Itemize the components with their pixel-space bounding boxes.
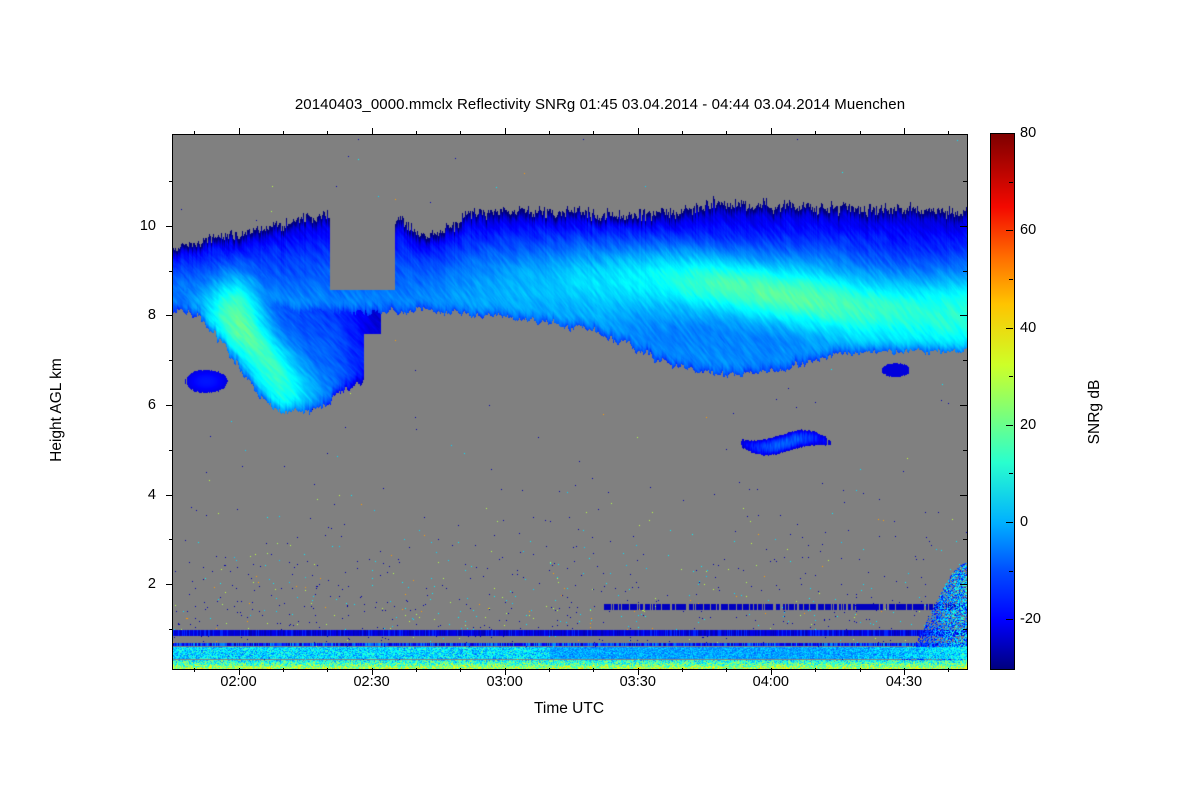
x-axis-tick-label: 04:30 [886, 674, 922, 690]
x-axis-minor-tick [327, 668, 328, 672]
x-axis-minor-tick [682, 668, 683, 672]
y-axis-minor-tick [963, 629, 967, 630]
x-axis-minor-tick [283, 668, 284, 672]
y-axis-tick [960, 495, 967, 496]
y-axis-minor-tick [963, 360, 967, 361]
x-axis-tick-label: 02:30 [353, 674, 389, 690]
y-axis-tick-label: 10 [0, 218, 156, 234]
y-axis-minor-tick [963, 539, 967, 540]
y-axis-tick [960, 226, 967, 227]
y-axis-minor-tick [963, 271, 967, 272]
y-axis-tick [166, 405, 173, 406]
x-axis-title: Time UTC [172, 700, 966, 718]
x-axis-tick [372, 128, 373, 135]
reflectivity-heatmap-plot [172, 134, 968, 670]
colorbar-tick-label: 60 [1020, 222, 1036, 238]
x-axis-minor-tick [549, 668, 550, 672]
colorbar-tick-label: -20 [1020, 611, 1041, 627]
x-axis-minor-tick [948, 668, 949, 672]
colorbar-minor-tick [1009, 571, 1013, 572]
colorbar-tick [1006, 133, 1013, 134]
x-axis-minor-tick [726, 668, 727, 672]
x-axis-minor-tick [194, 131, 195, 135]
x-axis-minor-tick [948, 131, 949, 135]
y-axis-minor-tick [963, 181, 967, 182]
x-axis-tick [239, 128, 240, 135]
colorbar-title: SNRg dB [1086, 302, 1104, 522]
x-axis-minor-tick [549, 131, 550, 135]
colorbar-tick [1006, 328, 1013, 329]
x-axis-tick-label: 04:00 [753, 674, 789, 690]
y-axis-minor-tick [169, 271, 173, 272]
y-axis-minor-tick [169, 629, 173, 630]
y-axis-tick [166, 226, 173, 227]
y-axis-tick-label: 6 [0, 397, 156, 413]
x-axis-minor-tick [860, 131, 861, 135]
x-axis-tick [505, 128, 506, 135]
colorbar-minor-tick [1009, 473, 1013, 474]
colorbar-tick [1006, 425, 1013, 426]
x-axis-minor-tick [815, 131, 816, 135]
y-axis-tick [960, 315, 967, 316]
y-axis-tick [166, 495, 173, 496]
x-axis-minor-tick [815, 668, 816, 672]
colorbar-minor-tick [1009, 182, 1013, 183]
x-axis-minor-tick [460, 668, 461, 672]
x-axis-tick [904, 128, 905, 135]
colorbar-tick-label: 20 [1020, 417, 1036, 433]
colorbar-tick [1006, 619, 1013, 620]
x-axis-minor-tick [593, 668, 594, 672]
x-axis-minor-tick [460, 131, 461, 135]
x-axis-minor-tick [860, 668, 861, 672]
colorbar-tick-label: 0 [1020, 514, 1028, 530]
colorbar-minor-tick [1009, 376, 1013, 377]
x-axis-minor-tick [327, 131, 328, 135]
y-axis-minor-tick [169, 360, 173, 361]
y-axis-title: Height AGL km [48, 270, 66, 550]
x-axis-minor-tick [416, 131, 417, 135]
y-axis-tick [166, 315, 173, 316]
x-axis-tick-label: 03:30 [620, 674, 656, 690]
y-axis-tick-label: 8 [0, 307, 156, 323]
y-axis-minor-tick [169, 181, 173, 182]
x-axis-minor-tick [726, 131, 727, 135]
x-axis-tick-label: 02:00 [220, 674, 256, 690]
colorbar [990, 133, 1015, 670]
heatmap-canvas [173, 135, 967, 669]
y-axis-tick-label: 4 [0, 487, 156, 503]
x-axis-minor-tick [194, 668, 195, 672]
page-title: 20140403_0000.mmclx Reflectivity SNRg 01… [0, 96, 1200, 113]
x-axis-minor-tick [593, 131, 594, 135]
colorbar-minor-tick [1009, 279, 1013, 280]
y-axis-tick [960, 405, 967, 406]
y-axis-tick [960, 584, 967, 585]
y-axis-minor-tick [963, 450, 967, 451]
y-axis-tick [166, 584, 173, 585]
colorbar-tick [1006, 522, 1013, 523]
colorbar-tick-label: 80 [1020, 125, 1036, 141]
x-axis-minor-tick [416, 668, 417, 672]
colorbar-tick-label: 40 [1020, 320, 1036, 336]
x-axis-tick-label: 03:00 [487, 674, 523, 690]
x-axis-tick [638, 128, 639, 135]
colorbar-tick [1006, 230, 1013, 231]
x-axis-minor-tick [283, 131, 284, 135]
x-axis-tick [771, 128, 772, 135]
x-axis-minor-tick [682, 131, 683, 135]
radar-plot-page: 20140403_0000.mmclx Reflectivity SNRg 01… [0, 0, 1200, 800]
y-axis-minor-tick [169, 450, 173, 451]
y-axis-minor-tick [169, 539, 173, 540]
y-axis-tick-label: 2 [0, 576, 156, 592]
